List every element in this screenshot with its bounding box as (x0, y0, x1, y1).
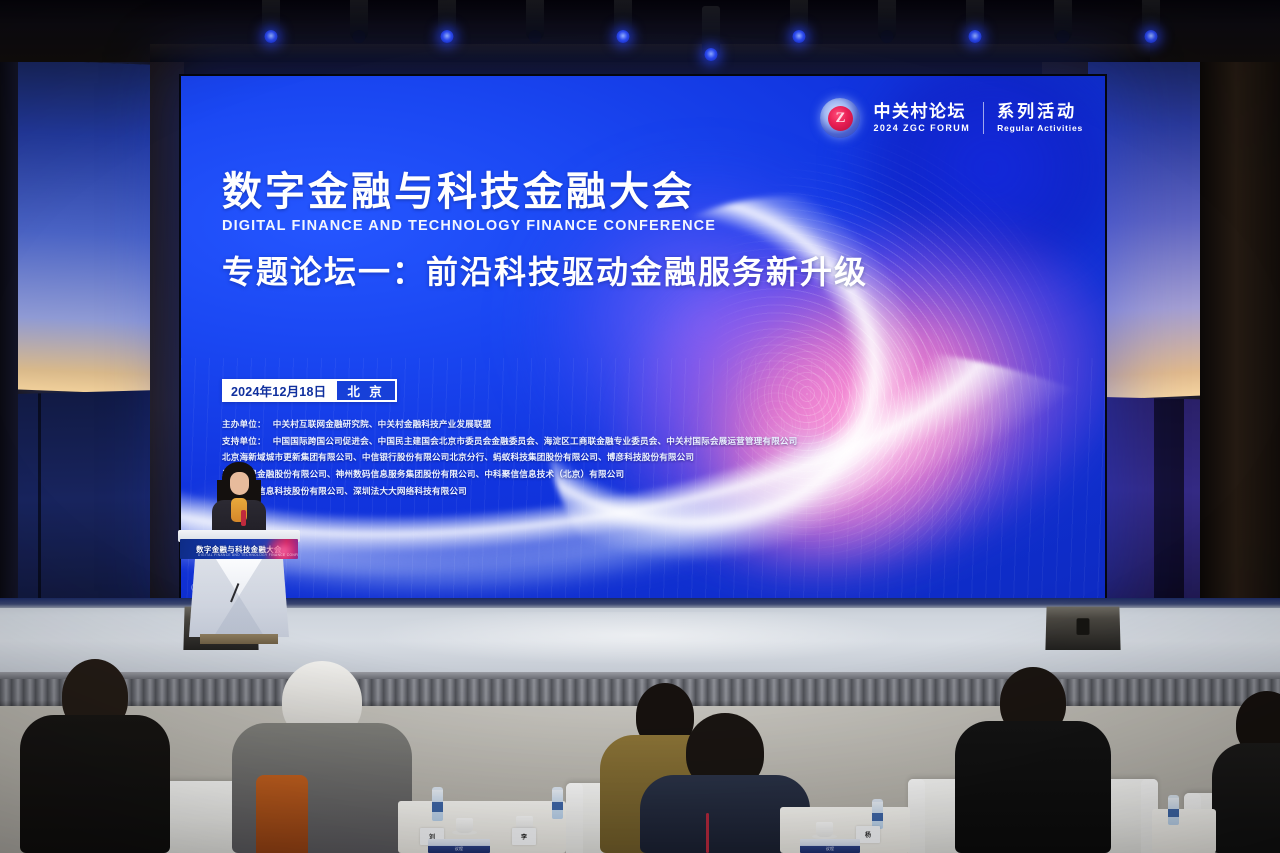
event-date: 2024年12月18日 (222, 379, 335, 402)
credit-text: 中国国际跨国公司促进会、中国民主建国会北京市委员会金融委员会、海淀区工商联金融专… (273, 436, 798, 446)
stage-light-11 (1142, 0, 1160, 40)
stage-light-7 (790, 0, 808, 40)
stage-light-3 (438, 0, 456, 40)
stage-light-8 (878, 0, 896, 40)
stage-floor-highlight (330, 612, 950, 670)
credit-text: 中关村互联网金融研究院、中关村金融科技产业发展联盟 (273, 419, 492, 429)
wall-panel-left-lower (14, 390, 160, 630)
zgc-emblem-icon: Z (820, 98, 860, 138)
conference-title-en: DIGITAL FINANCE AND TECHNOLOGY FINANCE C… (222, 218, 1012, 234)
series-activity-wordmark: 系列活动 Regular Activities (997, 103, 1083, 134)
logo-divider (983, 102, 984, 134)
agenda-placard-2: 议程 (800, 839, 860, 853)
water-bottle-3 (872, 799, 883, 829)
podium-area: 数字金融与科技金融大会 DIGITAL FINANCE AND TECHNOLO… (178, 462, 300, 637)
stage-light-lens (617, 30, 630, 43)
series-activity-cn: 系列活动 (997, 103, 1077, 121)
credit-line-1: 主办单位：中关村互联网金融研究院、中关村金融科技产业发展联盟 (222, 416, 1012, 433)
agenda-placard-text: 议程 (800, 846, 860, 852)
agenda-placard-1: 议程 (428, 839, 490, 853)
stage-light-lens (793, 30, 806, 43)
name-card-text: 李 (512, 828, 536, 845)
stage-light-2 (350, 0, 368, 40)
zgc-emblem-glyph: Z (828, 106, 853, 131)
speaker-face (230, 472, 249, 495)
attendee-torso (20, 715, 170, 853)
stage-light-lens (441, 30, 454, 43)
attendee-black-jacket (955, 671, 1111, 853)
zgc-forum-name-cn: 中关村论坛 (873, 103, 966, 121)
attendee-right-edge (1212, 703, 1280, 853)
lectern-panel-subtitle: DIGITAL FINANCE AND TECHNOLOGY FINANCE C… (198, 553, 298, 557)
credit-line-5: 上海合合信息科技股份有限公司、深圳法大大网络科技有限公司 (222, 483, 1012, 500)
sofa-arm (566, 783, 583, 853)
lectern-base (200, 634, 278, 644)
event-city: 北 京 (337, 381, 394, 400)
attendee-lanyard (706, 813, 709, 853)
stage-light-6 (702, 6, 720, 58)
conference-hall-scene: Z 中关村论坛 2024 ZGC FORUM 系列活动 Regular Acti… (0, 0, 1280, 853)
water-bottle-2 (552, 787, 563, 819)
attendee-orange-bag (256, 775, 308, 853)
credit-label: 主办单位： (222, 419, 266, 429)
credit-text: 北京海新域城市更新集团有限公司、中信银行股份有限公司北京分行、蚂蚁科技集团股份有… (222, 452, 694, 462)
stage-light-lens (705, 48, 718, 61)
wall-column-far-right (1200, 40, 1280, 650)
attendee-torso (955, 721, 1111, 853)
conference-title-cn: 数字金融与科技金融大会 (222, 171, 1012, 214)
stage-light-10 (1054, 0, 1072, 40)
water-bottle-4 (1168, 795, 1179, 825)
credit-line-3: 北京海新域城市更新集团有限公司、中信银行股份有限公司北京分行、蚂蚁科技集团股份有… (222, 449, 1012, 466)
attendee-far-left (20, 653, 170, 853)
zgc-forum-name-en: 2024 ZGC FORUM (873, 123, 970, 133)
zgc-forum-logo-lockup: Z 中关村论坛 2024 ZGC FORUM 系列活动 Regular Acti… (820, 98, 1083, 138)
attendee-gray-hair (232, 663, 412, 853)
stage-light-9 (966, 0, 984, 40)
lighting-truss (150, 44, 1150, 62)
sofa-arm (908, 779, 925, 853)
series-activity-en: Regular Activities (997, 123, 1083, 133)
led-stage-screen: Z 中关村论坛 2024 ZGC FORUM 系列活动 Regular Acti… (181, 76, 1105, 598)
wall-column-far-left (0, 40, 18, 650)
credit-line-4: 马上消费金融股份有限公司、神州数码信息服务集团股份有限公司、中科聚信信息技术（北… (222, 466, 1012, 483)
forum-subtitle-cn: 专题论坛一：前沿科技驱动金融服务新升级 (222, 254, 1012, 291)
stage-light-lens (1145, 30, 1158, 43)
wall-panel-left-upper (16, 59, 150, 394)
coffee-cup-3 (816, 822, 833, 837)
attendee-torso (1212, 743, 1280, 853)
credit-label: 支持单位： (222, 436, 266, 446)
agenda-placard-text: 议程 (428, 846, 490, 852)
zgc-forum-wordmark: 中关村论坛 2024 ZGC FORUM (873, 103, 970, 133)
name-card-2: 李 (512, 828, 536, 845)
lectern-body (189, 559, 289, 637)
date-location-badge: 2024年12月18日 北 京 (222, 379, 397, 402)
speaker-badge-ribbon (241, 510, 246, 526)
lectern: 数字金融与科技金融大会 DIGITAL FINANCE AND TECHNOLO… (178, 530, 300, 637)
credit-line-2: 支持单位：中国国际跨国公司促进会、中国民主建国会北京市委员会金融委员会、海淀区工… (222, 433, 1012, 450)
coffee-table-right (1152, 809, 1216, 853)
water-bottle-1 (432, 787, 443, 821)
stage-light-4 (526, 0, 544, 40)
stage-light-lens (529, 30, 542, 43)
organizer-credits: 主办单位：中关村互联网金融研究院、中关村金融科技产业发展联盟支持单位：中国国际跨… (222, 416, 1012, 500)
stage-monitor-right (1045, 607, 1120, 650)
coffee-cup-1 (456, 818, 473, 833)
stage-light-lens (881, 30, 894, 43)
stage-light-lens (353, 30, 366, 43)
lectern-branding-panel: 数字金融与科技金融大会 DIGITAL FINANCE AND TECHNOLO… (180, 539, 298, 559)
stage-light-lens (265, 30, 278, 43)
stage-light-1 (262, 0, 280, 40)
stage-light-lens (1057, 30, 1070, 43)
stage-light-5 (614, 0, 632, 40)
slide-content: 数字金融与科技金融大会 DIGITAL FINANCE AND TECHNOLO… (222, 171, 1012, 500)
stage-light-lens (969, 30, 982, 43)
